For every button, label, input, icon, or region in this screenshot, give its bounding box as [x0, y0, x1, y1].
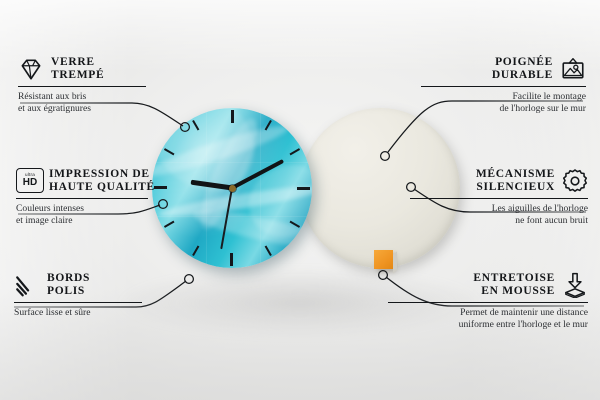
- callout-desc-line1: Couleurs intenses: [16, 203, 176, 215]
- callout-title-line2: EN MOUSSE: [473, 285, 555, 298]
- callout-bords-polis: BORDS POLIS Surface lisse et sûre: [14, 272, 164, 319]
- callout-desc-line2: de l'horloge sur le mur: [421, 103, 586, 115]
- callout-header: ultra HD IMPRESSION DE HAUTE QUALITÉ: [16, 168, 176, 194]
- callout-title-line1: VERRE: [51, 56, 104, 69]
- callout-title-line1: IMPRESSION DE: [49, 168, 155, 181]
- diamond-icon: [18, 56, 44, 82]
- callout-desc-line1: Les aiguilles de l'horloge: [410, 203, 588, 215]
- callout-title-line1: MÉCANISME: [476, 168, 555, 181]
- ultra-hd-icon: ultra HD: [16, 168, 42, 194]
- callout-header: BORDS POLIS: [14, 272, 164, 298]
- callout-header: VERRE TREMPÉ: [18, 56, 168, 82]
- callout-title-line1: POIGNÉE: [492, 56, 553, 69]
- gear-icon: [562, 168, 588, 194]
- callout-titles: IMPRESSION DE HAUTE QUALITÉ: [49, 168, 155, 194]
- hour-marker: [232, 187, 310, 189]
- callout-rule: [16, 198, 148, 199]
- callout-verre-trempe: VERRE TREMPÉ Résistant aux bris et aux é…: [18, 56, 168, 116]
- infographic-canvas: VERRE TREMPÉ Résistant aux bris et aux é…: [0, 0, 600, 400]
- callout-header: ENTRETOISE EN MOUSSE: [388, 272, 588, 298]
- callout-desc-line1: Permet de maintenir une distance: [388, 307, 588, 319]
- callout-title-line2: TREMPÉ: [51, 69, 104, 82]
- foam-spacer: [374, 250, 393, 269]
- callout-header: MÉCANISME SILENCIEUX: [410, 168, 588, 194]
- foam-spacer-side: [393, 251, 397, 273]
- callout-desc-line2: ne font aucun bruit: [410, 215, 588, 227]
- hour-marker: [231, 110, 233, 188]
- callout-desc-line1: Résistant aux bris: [18, 91, 168, 103]
- callout-title-line2: HAUTE QUALITÉ: [49, 181, 155, 194]
- callout-title-line2: SILENCIEUX: [476, 181, 555, 194]
- callout-desc-line2: et image claire: [16, 215, 176, 227]
- callout-rule: [421, 86, 586, 87]
- callout-titles: POIGNÉE DURABLE: [492, 56, 553, 82]
- callout-title-line1: ENTRETOISE: [473, 272, 555, 285]
- callout-entretoise-en-mousse: ENTRETOISE EN MOUSSE Permet de maintenir…: [388, 272, 588, 332]
- callout-titles: ENTRETOISE EN MOUSSE: [473, 272, 555, 298]
- hour-marker: [231, 188, 233, 266]
- callout-header: POIGNÉE DURABLE: [421, 56, 586, 82]
- callout-titles: VERRE TREMPÉ: [51, 56, 104, 82]
- polished-edges-icon: [14, 272, 40, 298]
- callout-titles: MÉCANISME SILENCIEUX: [476, 168, 555, 194]
- callout-rule: [14, 302, 142, 303]
- callout-mecanisme-silencieux: MÉCANISME SILENCIEUX Les aiguilles de l'…: [410, 168, 588, 228]
- clock-front-view: [152, 108, 312, 268]
- callout-rule: [18, 86, 146, 87]
- callout-title-line2: POLIS: [47, 285, 90, 298]
- callout-desc-line2: et aux égratignures: [18, 103, 168, 115]
- foam-spacer-icon: [562, 272, 588, 298]
- hands-hub: [229, 185, 236, 192]
- hd-icon-large-text: HD: [23, 178, 37, 188]
- callout-desc-line2: uniforme entre l'horloge et le mur: [388, 319, 588, 331]
- callout-rule: [410, 198, 588, 199]
- callout-poignee-durable: POIGNÉE DURABLE Facilite le montage de l…: [421, 56, 586, 116]
- callout-title-line1: BORDS: [47, 272, 90, 285]
- callout-title-line2: DURABLE: [492, 69, 553, 82]
- callout-desc-line1: Facilite le montage: [421, 91, 586, 103]
- callout-desc-line1: Surface lisse et sûre: [14, 307, 164, 319]
- callout-titles: BORDS POLIS: [47, 272, 90, 298]
- callout-impression-haute-qualite: ultra HD IMPRESSION DE HAUTE QUALITÉ Cou…: [16, 168, 176, 228]
- picture-frame-hanger-icon: [560, 56, 586, 82]
- callout-rule: [388, 302, 588, 303]
